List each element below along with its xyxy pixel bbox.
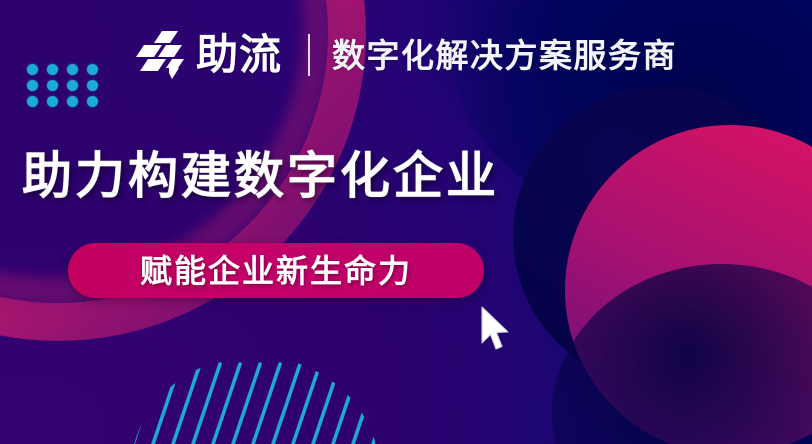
grid-dot — [87, 64, 98, 75]
grid-dot — [87, 96, 98, 107]
brand-name: 助流 — [196, 34, 282, 76]
grid-dot — [27, 64, 38, 75]
dot-grid-icon — [27, 64, 107, 112]
brand-tagline: 数字化解决方案服务商 — [332, 39, 677, 72]
hero-headline: 助力构建数字化企业 — [22, 148, 499, 204]
grid-dot — [47, 64, 58, 75]
grid-dot — [67, 80, 78, 91]
diagonal-line-dome-icon — [130, 356, 380, 444]
hero-cta-label: 赋能企业新生命力 — [140, 255, 412, 287]
grid-dot — [67, 96, 78, 107]
promo-banner: 助流 数字化解决方案服务商 助力构建数字化企业 赋能企业新生命力 — [0, 0, 812, 444]
zhuliu-lightning-logo-icon — [136, 29, 188, 81]
brand-header: 助流 数字化解决方案服务商 — [136, 22, 677, 88]
grid-dot — [67, 64, 78, 75]
grid-dot — [47, 96, 58, 107]
grid-dot — [27, 80, 38, 91]
grid-dot — [47, 80, 58, 91]
header-divider — [308, 34, 310, 76]
grid-dot — [27, 96, 38, 107]
grid-dot — [87, 80, 98, 91]
hero-cta-pill[interactable]: 赋能企业新生命力 — [68, 243, 484, 298]
